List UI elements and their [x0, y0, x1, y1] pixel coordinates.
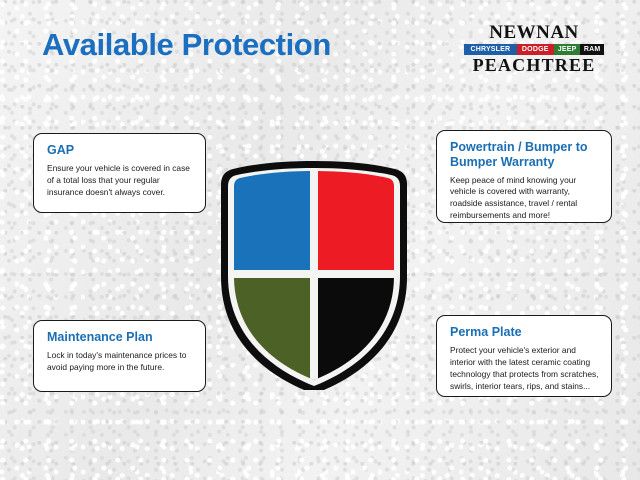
- brand-ram: RAM: [580, 44, 604, 55]
- protection-slide: Available Protection NEWNAN CHRYSLER DOD…: [0, 0, 640, 480]
- card-maintenance-title: Maintenance Plan: [47, 330, 193, 345]
- four-quadrant-shield-icon: [214, 158, 414, 390]
- dealership-logo: NEWNAN CHRYSLER DODGE JEEP RAM PEACHTREE: [464, 23, 604, 74]
- card-powertrain-warranty: Powertrain / Bumper to Bumper Warranty K…: [436, 130, 612, 223]
- card-powertrain-title: Powertrain / Bumper to Bumper Warranty: [450, 140, 599, 170]
- card-gap-body: Ensure your vehicle is covered in case o…: [47, 163, 193, 199]
- card-maintenance-plan: Maintenance Plan Lock in today's mainten…: [33, 320, 206, 392]
- card-gap-title: GAP: [47, 143, 193, 158]
- shield-divider-horizontal: [214, 270, 414, 278]
- card-permaplate-body: Protect your vehicle's exterior and inte…: [450, 345, 599, 393]
- card-powertrain-body: Keep peace of mind knowing your vehicle …: [450, 175, 599, 223]
- brand-chrysler: CHRYSLER: [464, 44, 517, 55]
- logo-bottom-word: PEACHTREE: [464, 56, 604, 74]
- shield-quadrants: [214, 158, 414, 390]
- page-title: Available Protection: [42, 27, 331, 63]
- brand-jeep: JEEP: [554, 44, 581, 55]
- card-gap: GAP Ensure your vehicle is covered in ca…: [33, 133, 206, 213]
- brand-dodge: DODGE: [517, 44, 554, 55]
- logo-top-word: NEWNAN: [464, 23, 604, 42]
- brand-strip: CHRYSLER DODGE JEEP RAM: [464, 44, 604, 55]
- card-perma-plate: Perma Plate Protect your vehicle's exter…: [436, 315, 612, 397]
- card-permaplate-title: Perma Plate: [450, 325, 599, 340]
- card-maintenance-body: Lock in today's maintenance prices to av…: [47, 350, 193, 374]
